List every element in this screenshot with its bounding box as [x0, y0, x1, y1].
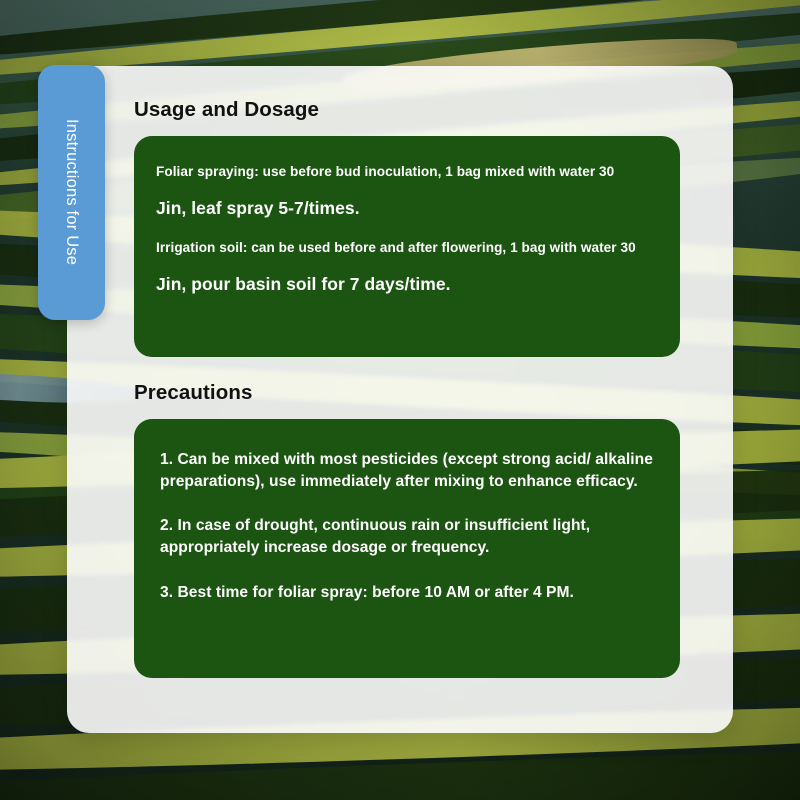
side-tab-label: Instructions for Use [62, 119, 81, 265]
usage-line-irrigation-soil: Irrigation soil: can be used before and … [156, 238, 658, 258]
precautions-box: 1. Can be mixed with most pesticides (ex… [134, 419, 680, 678]
precautions-section-heading: Precautions [134, 381, 680, 405]
precaution-item-3: 3. Best time for foliar spray: before 10… [160, 582, 658, 604]
usage-section-heading: Usage and Dosage [134, 98, 680, 122]
usage-dosage-box: Foliar spraying: use before bud inoculat… [134, 136, 680, 357]
card-content: Usage and Dosage Foliar spraying: use be… [67, 66, 733, 733]
usage-line-pour-basin-soil: Jin, pour basin soil for 7 days/time. [156, 272, 658, 297]
precaution-item-2: 2. In case of drought, continuous rain o… [160, 515, 658, 559]
precaution-item-1: 1. Can be mixed with most pesticides (ex… [160, 449, 658, 493]
side-tab-instructions-for-use[interactable]: Instructions for Use [38, 65, 105, 320]
usage-line-foliar-spraying: Foliar spraying: use before bud inoculat… [156, 162, 658, 182]
usage-line-leaf-spray-frequency: Jin, leaf spray 5-7/times. [156, 196, 658, 221]
